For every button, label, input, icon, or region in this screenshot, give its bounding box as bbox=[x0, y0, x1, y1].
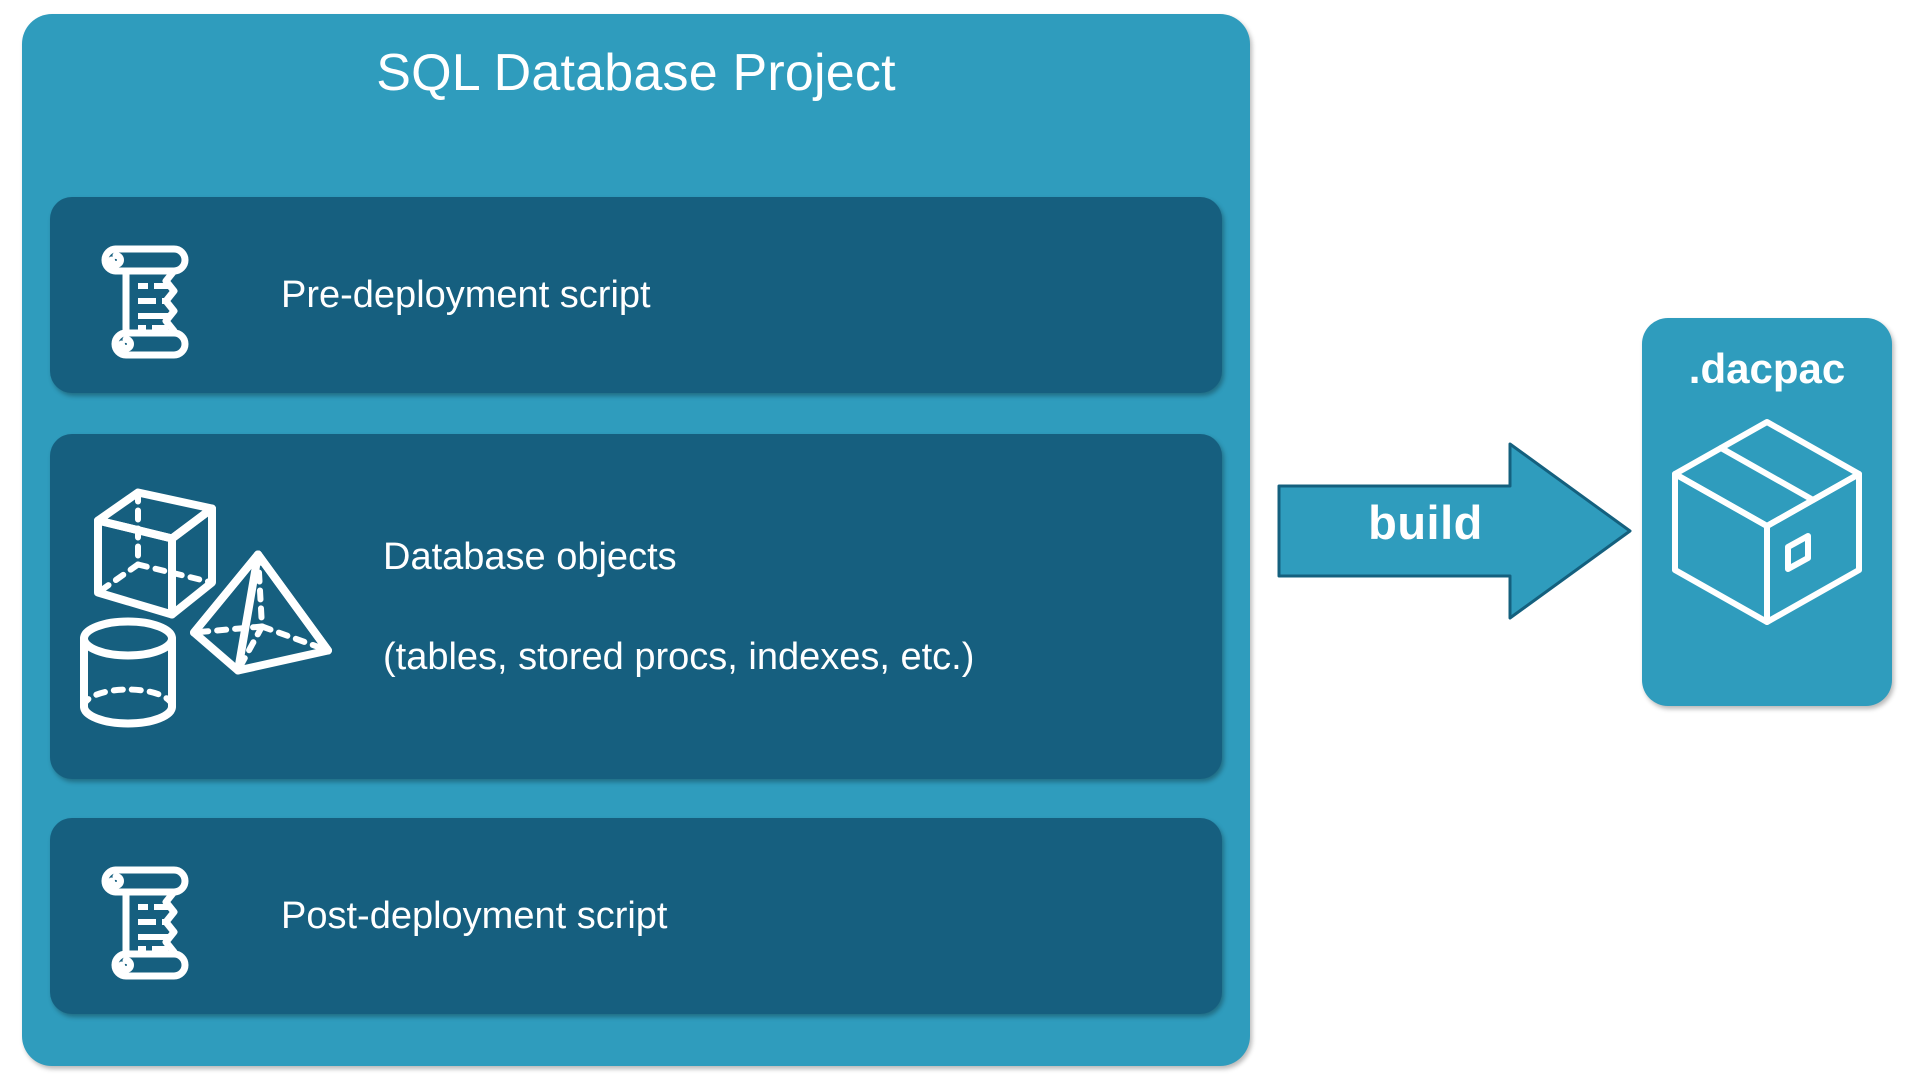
dacpac-label: .dacpac bbox=[1642, 344, 1892, 394]
build-label: build bbox=[1318, 494, 1533, 552]
card-pre-deployment-label: Pre-deployment script bbox=[281, 220, 651, 370]
card-database-objects-label: Database objects (tables, stored procs, … bbox=[383, 482, 974, 732]
card-post-deployment-script[interactable]: Post-deployment script bbox=[50, 818, 1222, 1014]
card-label-line: Database objects bbox=[383, 532, 974, 582]
card-database-objects[interactable]: Database objects (tables, stored procs, … bbox=[50, 434, 1222, 779]
package-box-icon bbox=[1668, 414, 1866, 630]
card-post-deployment-label: Post-deployment script bbox=[281, 841, 668, 991]
page-title: SQL Database Project bbox=[22, 42, 1250, 104]
sql-database-project-panel: SQL Database Project bbox=[22, 14, 1250, 1066]
3d-shapes-icon bbox=[76, 474, 351, 739]
card-pre-deployment-script[interactable]: Pre-deployment script bbox=[50, 197, 1222, 393]
scroll-icon bbox=[86, 231, 202, 359]
scroll-icon bbox=[86, 852, 202, 980]
card-label-line: (tables, stored procs, indexes, etc.) bbox=[383, 632, 974, 682]
dacpac-output-panel[interactable]: .dacpac bbox=[1642, 318, 1892, 706]
card-label-line: Pre-deployment script bbox=[281, 270, 651, 320]
card-label-line: Post-deployment script bbox=[281, 891, 668, 941]
